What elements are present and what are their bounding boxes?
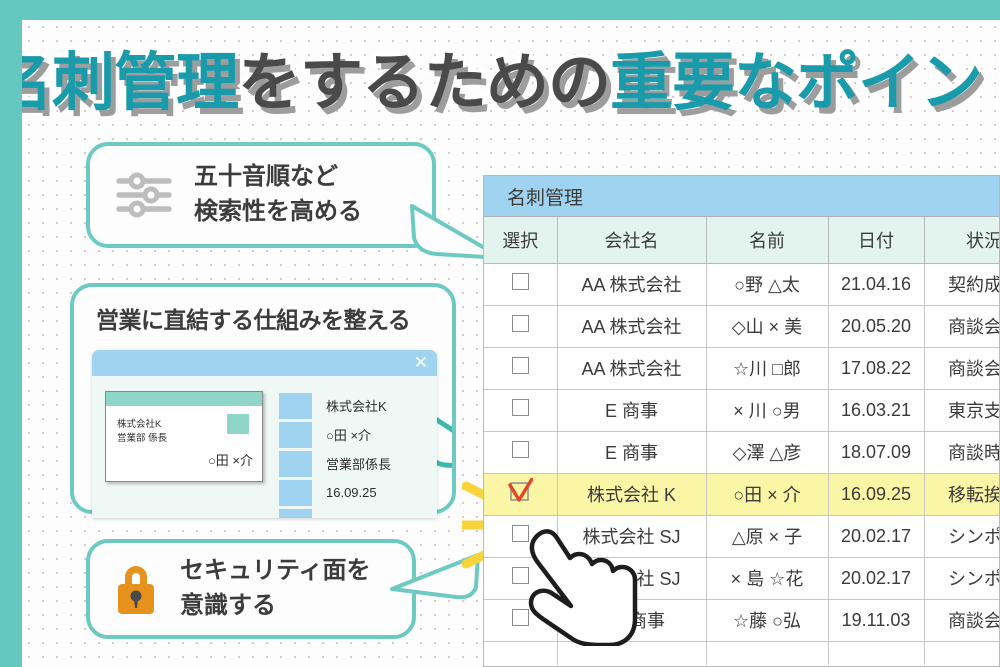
lock-icon <box>114 562 158 616</box>
table-head: 選択 会社名 名前 日付 状況 <box>484 217 1000 263</box>
row-select-cell[interactable] <box>484 473 557 515</box>
page-title-segment-1: 名刺管理 <box>22 52 238 115</box>
table-row[interactable]: E 商事◇澤 △彦18.07.09商談時に <box>484 431 1000 473</box>
table-row[interactable]: 株式会社 SJ△原 × 子20.02.17シンポジ <box>484 515 1000 557</box>
table-row-empty <box>484 641 1000 665</box>
field-label-swatch <box>279 480 312 506</box>
empty-cell <box>828 641 924 665</box>
row-status: 商談会議 <box>924 599 1000 641</box>
card-field-row: 株式会社K <box>279 391 429 420</box>
card-field-row: 16.09.25 <box>279 478 429 507</box>
checkbox-unchecked-icon[interactable] <box>512 609 529 626</box>
table-row[interactable]: 株式会社 SJ× 島 ☆花20.02.17シンポジ <box>484 557 1000 599</box>
row-company: AA 株式会社 <box>557 347 706 389</box>
row-select-cell[interactable] <box>484 557 557 599</box>
business-card-table: 選択 会社名 名前 日付 状況 AA 株式会社○野 △太21.04.16契約成立… <box>484 217 1000 665</box>
table-row[interactable]: 株式会社 K○田 × 介16.09.25移転挨拶 <box>484 473 1000 515</box>
card-field-row: 営業部係長 <box>279 449 429 478</box>
card-field-row: ○田 ×介 <box>279 420 429 449</box>
row-company: E 商事 <box>557 431 706 473</box>
callout-search: 五十音順など 検索性を高める <box>86 142 436 248</box>
field-label-swatch <box>279 509 312 519</box>
checkbox-unchecked-icon[interactable] <box>512 399 529 416</box>
row-select-cell[interactable] <box>484 263 557 305</box>
row-date: 20.05.20 <box>828 305 924 347</box>
row-select-cell[interactable] <box>484 599 557 641</box>
field-value: ○田 ×介 <box>312 425 429 444</box>
table-body: AA 株式会社○野 △太21.04.16契約成立AA 株式会社◇山 × 美20.… <box>484 263 1000 665</box>
checkbox-unchecked-icon[interactable] <box>512 525 529 542</box>
column-header-select[interactable]: 選択 <box>484 217 557 263</box>
sliders-icon <box>116 172 172 218</box>
callout-search-line2: 検索性を高める <box>194 195 362 230</box>
callout-search-text: 五十音順など 検索性を高める <box>194 160 362 230</box>
table-row[interactable]: TM 商事☆藤 ○弘19.11.03商談会議 <box>484 599 1000 641</box>
field-label-swatch <box>279 422 312 448</box>
poster-canvas: 名刺管理をするための重要なポイント 五十音順など 検索性を高める <box>22 20 1000 667</box>
column-header-company[interactable]: 会社名 <box>557 217 706 263</box>
table-row[interactable]: AA 株式会社◇山 × 美20.05.20商談会議 <box>484 305 1000 347</box>
callout-security: セキュリティ面を 意識する <box>86 539 416 639</box>
checkbox-checked-icon[interactable] <box>510 482 530 502</box>
dialog-body: 株式会社K 営業部 係長 ○田 ×介 株式会社K ○田 ×介 営業部係長 <box>92 376 437 518</box>
row-status: 契約成立 <box>924 263 1000 305</box>
row-status: シンポジ <box>924 557 1000 599</box>
checkbox-unchecked-icon[interactable] <box>512 567 529 584</box>
page-title: 名刺管理をするための重要なポイント <box>62 42 972 124</box>
row-name: ◇澤 △彦 <box>706 431 828 473</box>
row-name: × 島 ☆花 <box>706 557 828 599</box>
row-company: 株式会社 K <box>557 473 706 515</box>
checkbox-unchecked-icon[interactable] <box>512 315 529 332</box>
row-status: 東京支店 <box>924 389 1000 431</box>
table-header-row: 選択 会社名 名前 日付 状況 <box>484 217 1000 263</box>
callout-security-line1: セキュリティ面を <box>180 554 371 589</box>
row-name: × 川 ○男 <box>706 389 828 431</box>
field-value: 営業部係長 <box>312 454 429 473</box>
row-status: 商談会議 <box>924 305 1000 347</box>
row-name: ○田 × 介 <box>706 473 828 515</box>
row-date: 19.11.03 <box>828 599 924 641</box>
row-status: シンポジ <box>924 515 1000 557</box>
row-date: 17.08.22 <box>828 347 924 389</box>
row-date: 18.07.09 <box>828 431 924 473</box>
callout-sales-heading: 営業に直結する仕組みを整える <box>96 301 410 335</box>
card-field-row <box>279 507 429 518</box>
row-status: 商談時に <box>924 431 1000 473</box>
row-company: E 商事 <box>557 389 706 431</box>
row-status: 移転挨拶 <box>924 473 1000 515</box>
row-name: ○野 △太 <box>706 263 828 305</box>
card-company: 株式会社K <box>117 416 161 430</box>
checkbox-unchecked-icon[interactable] <box>512 357 529 374</box>
row-date: 16.09.25 <box>828 473 924 515</box>
field-value: 株式会社K <box>312 396 429 415</box>
field-value: 16.09.25 <box>312 485 429 500</box>
row-select-cell[interactable] <box>484 515 557 557</box>
row-date: 16.03.21 <box>828 389 924 431</box>
row-date: 21.04.16 <box>828 263 924 305</box>
row-date: 20.02.17 <box>828 515 924 557</box>
row-company: AA 株式会社 <box>557 305 706 347</box>
row-select-cell[interactable] <box>484 347 557 389</box>
card-field-list: 株式会社K ○田 ×介 営業部係長 16.09.25 <box>279 391 429 518</box>
empty-cell <box>557 641 706 665</box>
card-department: 営業部 係長 <box>117 430 167 444</box>
field-label-swatch <box>279 393 312 419</box>
field-label-swatch <box>279 451 312 477</box>
table-row[interactable]: AA 株式会社☆川 □郎17.08.22商談会議 <box>484 347 1000 389</box>
card-band <box>106 392 262 406</box>
row-company: AA 株式会社 <box>557 263 706 305</box>
row-name: ◇山 × 美 <box>706 305 828 347</box>
page-title-segment-2: をするための <box>238 52 610 115</box>
dialog-titlebar: ✕ <box>92 350 437 376</box>
card-logo <box>227 414 249 434</box>
table-row[interactable]: E 商事× 川 ○男16.03.21東京支店 <box>484 389 1000 431</box>
callout-search-line1: 五十音順など <box>194 160 362 195</box>
row-date: 20.02.17 <box>828 557 924 599</box>
row-company: 株式会社 SJ <box>557 515 706 557</box>
checkbox-unchecked-icon[interactable] <box>512 273 529 290</box>
callout-security-text: セキュリティ面を 意識する <box>180 554 371 624</box>
close-icon[interactable]: ✕ <box>414 352 428 374</box>
row-select-cell[interactable] <box>484 431 557 473</box>
row-name: ☆藤 ○弘 <box>706 599 828 641</box>
row-select-cell[interactable] <box>484 389 557 431</box>
row-company: 株式会社 SJ <box>557 557 706 599</box>
table-row[interactable]: AA 株式会社○野 △太21.04.16契約成立 <box>484 263 1000 305</box>
row-name: ☆川 □郎 <box>706 347 828 389</box>
callout-security-line2: 意識する <box>180 589 371 624</box>
row-name: △原 × 子 <box>706 515 828 557</box>
column-header-name[interactable]: 名前 <box>706 217 828 263</box>
business-card-dialog: ✕ 株式会社K 営業部 係長 ○田 ×介 株式会社K ○田 ×介 <box>92 350 437 518</box>
row-status: 商談会議 <box>924 347 1000 389</box>
table-titlebar: 名刺管理 <box>484 176 999 217</box>
empty-cell <box>484 641 557 665</box>
table-title: 名刺管理 <box>507 183 583 210</box>
row-company: TM 商事 <box>557 599 706 641</box>
card-name: ○田 ×介 <box>208 450 253 469</box>
business-card-table-panel: 名刺管理 選択 会社名 名前 日付 状況 AA 株式会社○野 △太21.04.1… <box>483 175 1000 667</box>
page-title-segment-3: 重要なポイント <box>610 52 1000 115</box>
row-select-cell[interactable] <box>484 305 557 347</box>
business-card-preview[interactable]: 株式会社K 営業部 係長 ○田 ×介 <box>105 391 263 482</box>
checkbox-unchecked-icon[interactable] <box>512 441 529 458</box>
empty-cell <box>924 641 1000 665</box>
column-header-date[interactable]: 日付 <box>828 217 924 263</box>
column-header-status[interactable]: 状況 <box>924 217 1000 263</box>
empty-cell <box>706 641 828 665</box>
